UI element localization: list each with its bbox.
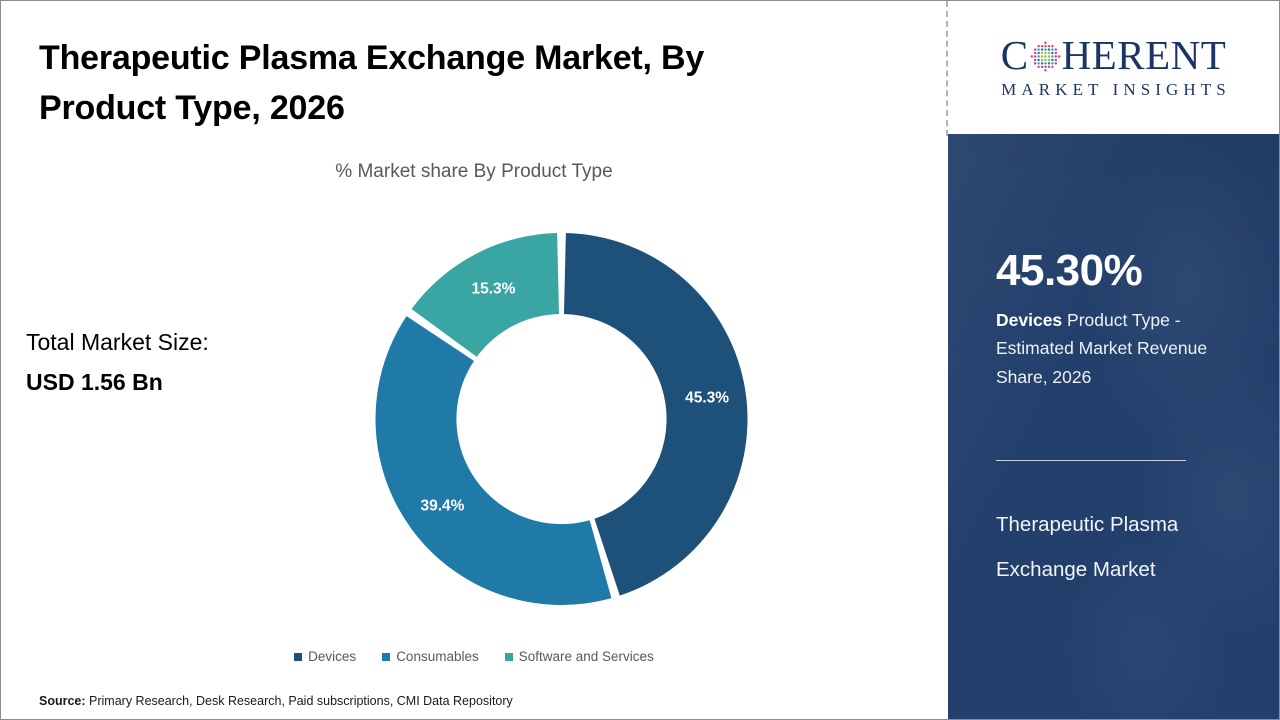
globe-dot <box>1047 66 1049 68</box>
chart-subtitle: % Market share By Product Type <box>1 161 947 183</box>
page-title: Therapeutic Plasma Exchange Market, By P… <box>39 33 829 134</box>
globe-dot <box>1030 55 1032 57</box>
globe-dot <box>1040 48 1042 50</box>
legend-swatch <box>294 653 302 661</box>
source-text: Primary Research, Desk Research, Paid su… <box>86 694 513 708</box>
globe-dot <box>1037 55 1039 57</box>
globe-dot <box>1044 66 1046 68</box>
globe-dot <box>1054 62 1056 64</box>
infographic-canvas: Therapeutic Plasma Exchange Market, By P… <box>0 0 1280 720</box>
donut-chart: 45.3%39.4%15.3% <box>369 223 754 615</box>
globe-dot <box>1044 52 1046 54</box>
globe-dot <box>1034 55 1036 57</box>
globe-dot <box>1047 52 1049 54</box>
globe-dot <box>1040 59 1042 61</box>
stat-percent-value: 45.30% <box>996 249 1142 293</box>
globe-dot <box>1054 52 1056 54</box>
source-footnote: Source: Primary Research, Desk Research,… <box>39 694 513 708</box>
donut-slice-label: 45.3% <box>685 389 729 406</box>
legend-item[interactable]: Devices <box>294 649 356 664</box>
globe-dot <box>1040 66 1042 68</box>
stat-caption-bold: Devices <box>996 310 1062 330</box>
globe-dot <box>1054 48 1056 50</box>
total-market-size-value: USD 1.56 Bn <box>26 363 209 403</box>
panel-background-texture <box>948 134 1279 719</box>
donut-slice-label: 15.3% <box>471 281 515 298</box>
globe-dot <box>1037 52 1039 54</box>
brand-logo: C HERENT MARKET INSIGHTS <box>948 1 1279 134</box>
total-market-size-block: Total Market Size: USD 1.56 Bn <box>26 323 209 402</box>
globe-dot <box>1034 59 1036 61</box>
globe-dot <box>1034 52 1036 54</box>
globe-dot <box>1058 55 1060 57</box>
globe-dots-icon <box>1030 41 1061 72</box>
globe-dot <box>1044 42 1046 44</box>
donut-slice-label: 39.4% <box>420 498 464 515</box>
globe-dot <box>1047 48 1049 50</box>
legend-swatch <box>505 653 513 661</box>
globe-dot <box>1034 48 1036 50</box>
donut-slice-group <box>376 233 748 605</box>
donut-chart-svg: 45.3%39.4%15.3% <box>369 223 754 615</box>
logo-letters-herent: HERENT <box>1062 35 1227 76</box>
panel-market-name: Therapeutic Plasma Exchange Market <box>996 502 1248 592</box>
globe-dot <box>1044 45 1046 47</box>
globe-dot <box>1044 48 1046 50</box>
stat-panel: 45.30% Devices Product Type - Estimated … <box>948 134 1279 719</box>
globe-dot <box>1040 55 1042 57</box>
globe-dot <box>1051 52 1053 54</box>
legend-label: Software and Services <box>519 649 654 664</box>
chart-legend: DevicesConsumablesSoftware and Services <box>1 649 947 664</box>
globe-dot <box>1037 48 1039 50</box>
globe-dot <box>1040 52 1042 54</box>
globe-dot <box>1051 48 1053 50</box>
logo-letter-c: C <box>1001 35 1029 76</box>
stat-caption: Devices Product Type - Estimated Market … <box>996 306 1246 391</box>
globe-dot <box>1037 62 1039 64</box>
legend-label: Consumables <box>396 649 479 664</box>
globe-dot <box>1044 69 1046 71</box>
globe-dot <box>1047 62 1049 64</box>
globe-dot <box>1051 55 1053 57</box>
globe-dot <box>1051 59 1053 61</box>
globe-dot <box>1044 62 1046 64</box>
panel-divider-rule <box>996 460 1186 461</box>
globe-dot <box>1040 62 1042 64</box>
logo-tagline: MARKET INSIGHTS <box>996 80 1231 100</box>
legend-label: Devices <box>308 649 356 664</box>
globe-dot <box>1054 55 1056 57</box>
globe-dot <box>1037 45 1039 47</box>
globe-dot <box>1051 45 1053 47</box>
globe-dot <box>1051 62 1053 64</box>
globe-dot <box>1034 62 1036 64</box>
globe-dot <box>1047 55 1049 57</box>
total-market-size-label: Total Market Size: <box>26 323 209 363</box>
globe-dot <box>1044 55 1046 57</box>
globe-dot <box>1037 66 1039 68</box>
globe-dot <box>1044 59 1046 61</box>
globe-dot <box>1054 59 1056 61</box>
source-label: Source: <box>39 694 86 708</box>
globe-dot <box>1047 59 1049 61</box>
globe-dot <box>1047 45 1049 47</box>
left-content-pane: Therapeutic Plasma Exchange Market, By P… <box>1 1 947 719</box>
globe-dot <box>1037 59 1039 61</box>
donut-slice[interactable] <box>376 316 612 605</box>
legend-item[interactable]: Consumables <box>382 649 479 664</box>
logo-wordmark: C HERENT <box>1001 35 1227 76</box>
legend-swatch <box>382 653 390 661</box>
right-brand-pane: C HERENT MARKET INSIGHTS 45.30% Devices … <box>948 1 1279 719</box>
globe-dot <box>1040 45 1042 47</box>
legend-item[interactable]: Software and Services <box>505 649 654 664</box>
globe-dot <box>1051 66 1053 68</box>
